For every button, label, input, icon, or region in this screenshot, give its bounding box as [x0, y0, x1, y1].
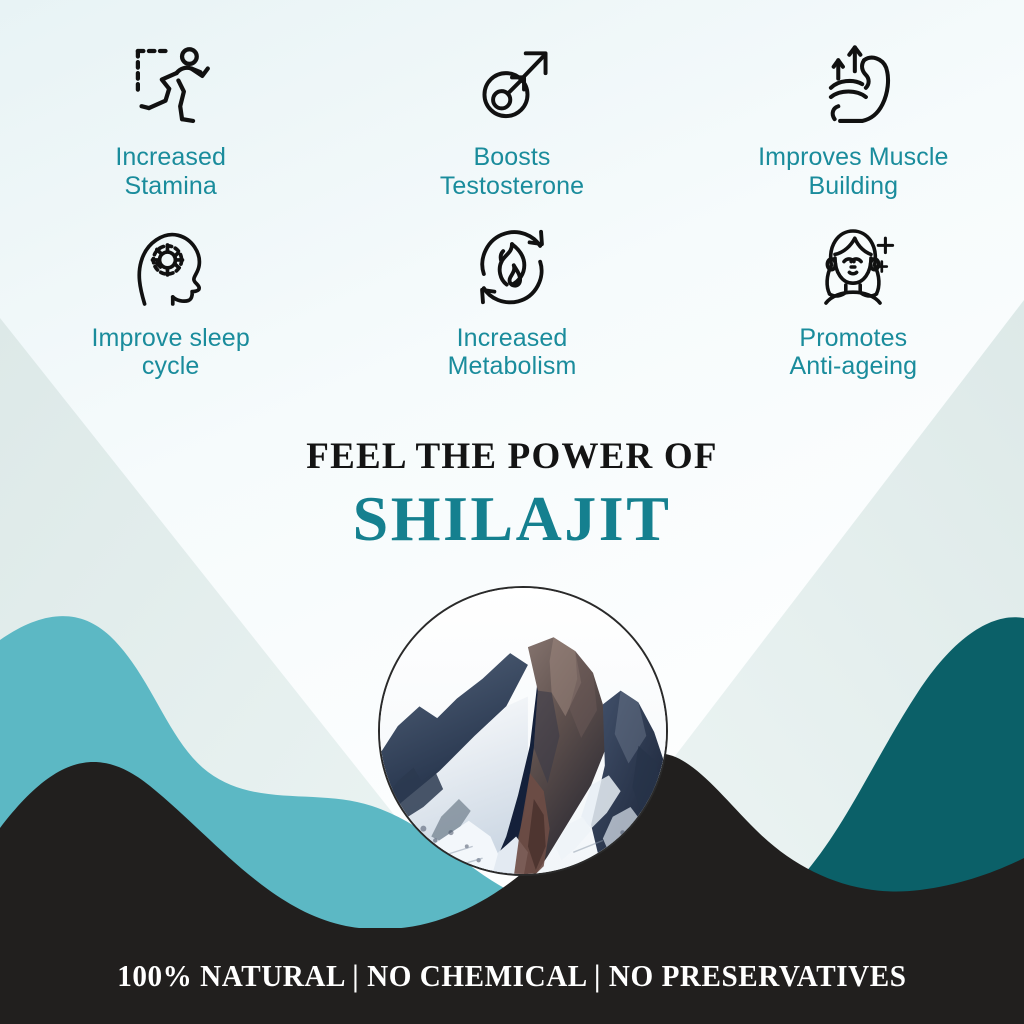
- flame-cycle-icon: [464, 219, 560, 315]
- shilajit-benefits-poster: Increased Stamina Boosts Testosterone: [0, 0, 1024, 1024]
- headline-line1: FEEL THE POWER OF: [0, 438, 1024, 475]
- benefit-item-promotes-anti-ageing[interactable]: Promotes Anti-ageing: [683, 219, 1024, 382]
- woman-sparkle-icon: [805, 219, 901, 315]
- benefit-item-increased-stamina[interactable]: Increased Stamina: [0, 38, 341, 201]
- benefit-label: Increased Stamina: [115, 143, 226, 201]
- benefit-item-increased-metabolism[interactable]: Increased Metabolism: [341, 219, 682, 382]
- headline-line2-shilajit: SHILAJIT: [0, 487, 1024, 551]
- footer-strip: 100% NATURAL | NO CHEMICAL | NO PRESERVA…: [0, 928, 1024, 1024]
- benefit-item-boosts-testosterone[interactable]: Boosts Testosterone: [341, 38, 682, 201]
- benefit-item-improves-muscle-building[interactable]: Improves Muscle Building: [683, 38, 1024, 201]
- benefit-label: Boosts Testosterone: [440, 143, 584, 201]
- male-symbol-icon: [464, 38, 560, 134]
- headline-block: FEEL THE POWER OF SHILAJIT: [0, 438, 1024, 551]
- benefit-item-improve-sleep-cycle[interactable]: Improve sleep cycle: [0, 219, 341, 382]
- benefit-label: Improve sleep cycle: [92, 324, 250, 382]
- benefit-label: Improves Muscle Building: [758, 143, 948, 201]
- head-gear-icon: [123, 219, 219, 315]
- running-man-icon: [123, 38, 219, 134]
- benefit-label: Promotes Anti-ageing: [790, 324, 918, 382]
- flexed-bicep-icon: [805, 38, 901, 134]
- mountain-medallion: [378, 586, 668, 876]
- footer-claims-text: 100% NATURAL | NO CHEMICAL | NO PRESERVA…: [117, 958, 906, 994]
- benefit-label: Increased Metabolism: [448, 324, 577, 382]
- benefits-grid: Increased Stamina Boosts Testosterone: [0, 38, 1024, 381]
